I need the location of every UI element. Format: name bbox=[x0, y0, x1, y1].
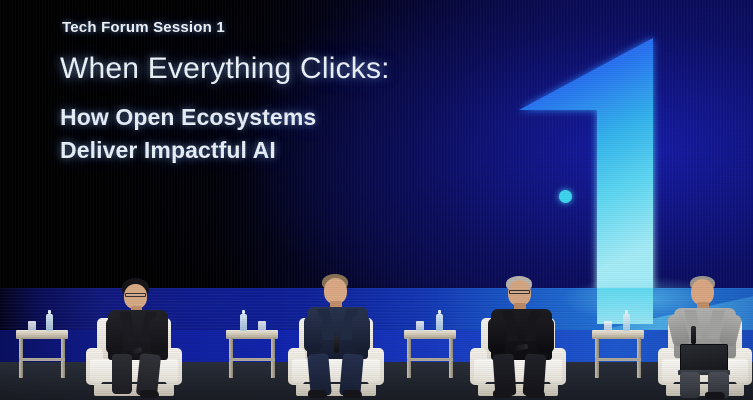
water-bottle bbox=[623, 314, 630, 331]
drinking-glass bbox=[28, 321, 36, 331]
eyeglasses-icon bbox=[125, 293, 146, 297]
side-table bbox=[16, 330, 68, 378]
water-bottle bbox=[46, 314, 53, 331]
conference-stage-photo: Tech Forum Session 1 When Everything Cli… bbox=[0, 0, 753, 400]
drinking-glass bbox=[416, 321, 424, 331]
leg-left bbox=[680, 372, 700, 398]
water-bottle bbox=[240, 314, 247, 331]
panelist-three bbox=[480, 276, 566, 398]
shoe bbox=[140, 390, 159, 398]
arm-left bbox=[304, 316, 322, 352]
arm-left bbox=[488, 318, 506, 353]
shoe bbox=[526, 390, 545, 398]
side-table bbox=[592, 330, 644, 378]
subtitle-line-two: Deliver Impactful AI bbox=[60, 137, 276, 164]
microphone bbox=[691, 326, 696, 344]
drinking-glass bbox=[604, 321, 612, 331]
microphone bbox=[334, 336, 339, 353]
shoe bbox=[705, 392, 725, 399]
water-bottle bbox=[436, 314, 443, 331]
shoe bbox=[308, 390, 327, 398]
page-title: When Everything Clicks: bbox=[60, 52, 390, 86]
shoe bbox=[343, 390, 362, 398]
leg-left bbox=[112, 354, 132, 394]
panelist-two bbox=[296, 274, 382, 398]
arm-left bbox=[106, 318, 123, 354]
panelist-four bbox=[664, 276, 750, 398]
panelist-one bbox=[96, 278, 182, 398]
laptop bbox=[680, 344, 728, 372]
arm-right bbox=[352, 316, 370, 352]
eyeglasses-icon bbox=[509, 290, 530, 294]
side-table bbox=[226, 330, 278, 378]
accent-dot-icon bbox=[559, 190, 572, 203]
session-numeral-graphic bbox=[495, 20, 695, 292]
arm-right bbox=[150, 318, 167, 354]
shoe bbox=[493, 390, 512, 398]
session-eyebrow-label: Tech Forum Session 1 bbox=[62, 19, 225, 36]
subtitle-line-one: How Open Ecosystems bbox=[60, 104, 316, 131]
arm-right bbox=[536, 318, 554, 353]
numeral-one-shape bbox=[495, 20, 695, 292]
drinking-glass bbox=[258, 321, 266, 331]
side-table bbox=[404, 330, 456, 378]
